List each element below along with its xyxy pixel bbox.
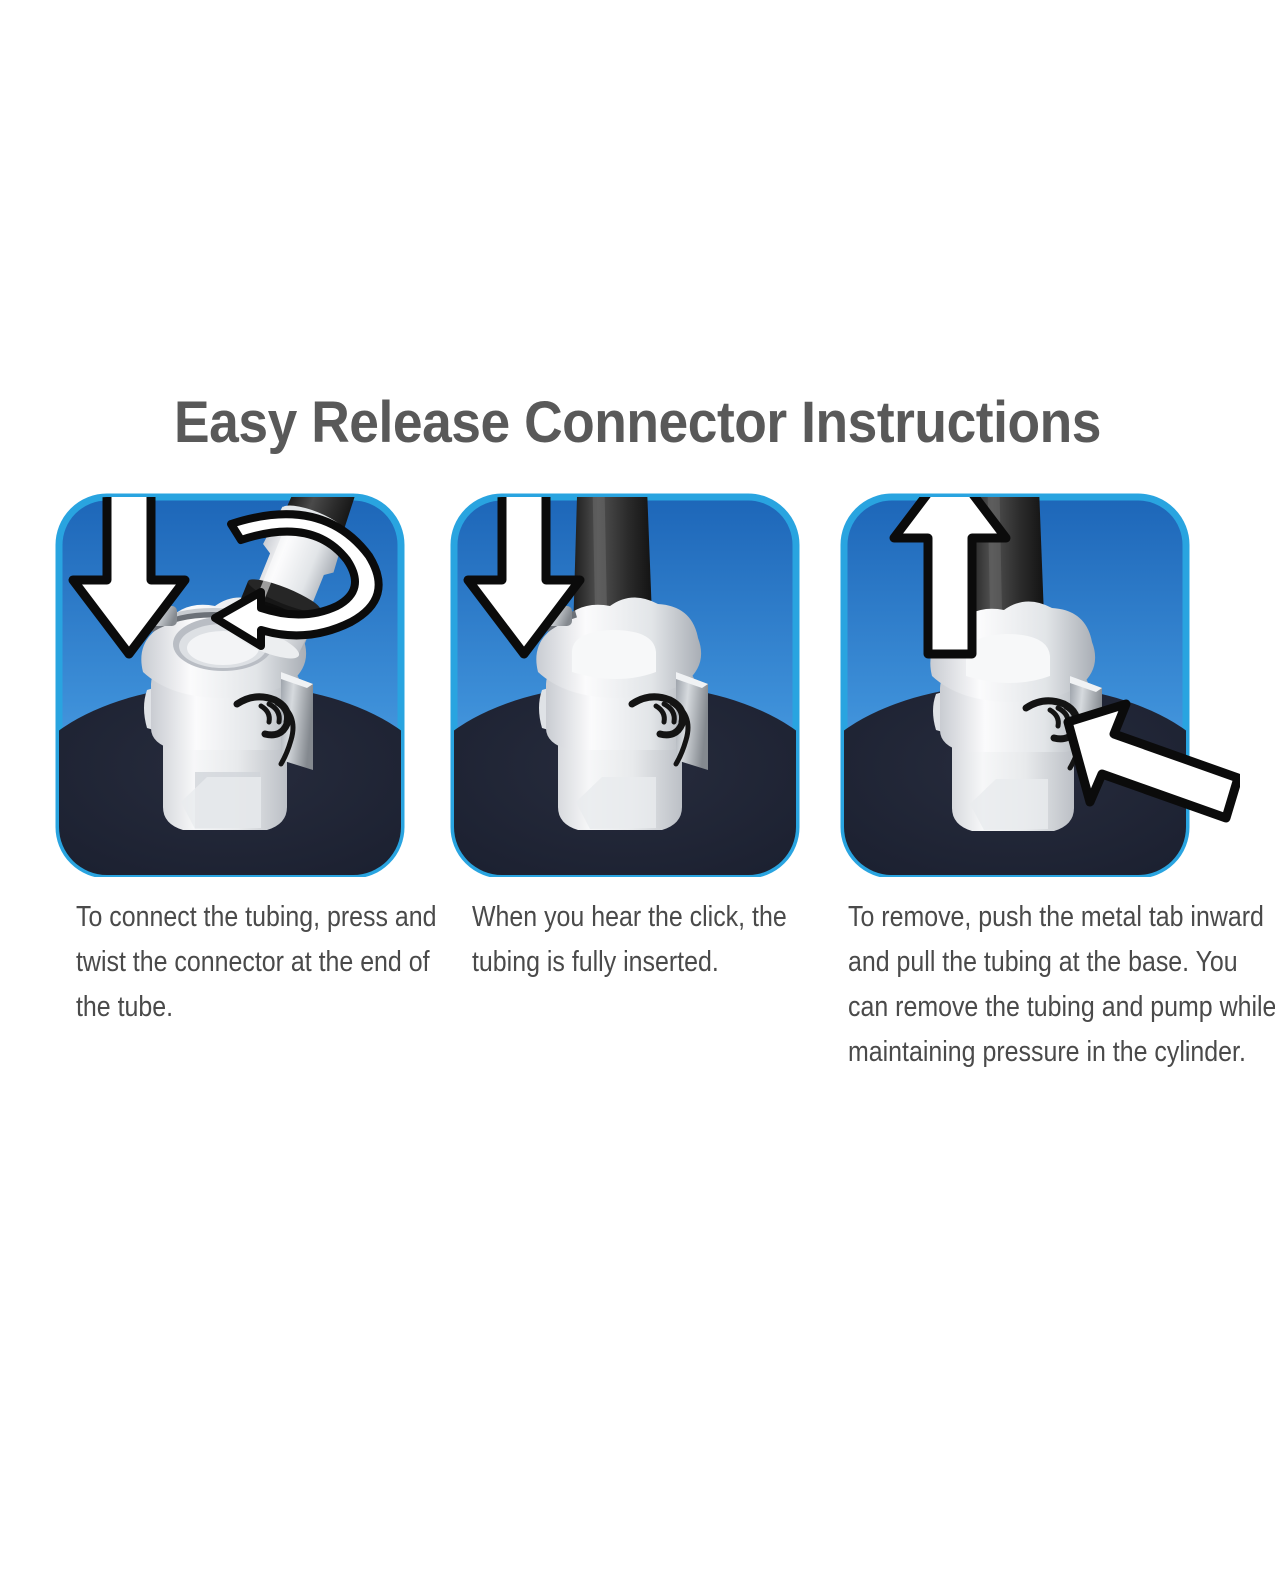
panel-3-illustration (840, 472, 1240, 877)
panel-1-figure (55, 472, 405, 877)
panel-3-caption: To remove, push the metal tab inward and… (848, 895, 1275, 1075)
panel-2-illustration (450, 472, 800, 877)
panel-2-figure (450, 472, 800, 877)
panel-2-caption: When you hear the click, the tubing is f… (472, 895, 833, 985)
instruction-panel-3 (840, 472, 1240, 877)
panel-1-illustration (55, 472, 405, 877)
instruction-panel-1 (55, 472, 405, 877)
instruction-panel-2 (450, 472, 800, 877)
instruction-panel-row (0, 0, 1275, 1575)
panel-3-figure (840, 472, 1240, 877)
panel-1-caption: To connect the tubing, press and twist t… (76, 895, 437, 1030)
